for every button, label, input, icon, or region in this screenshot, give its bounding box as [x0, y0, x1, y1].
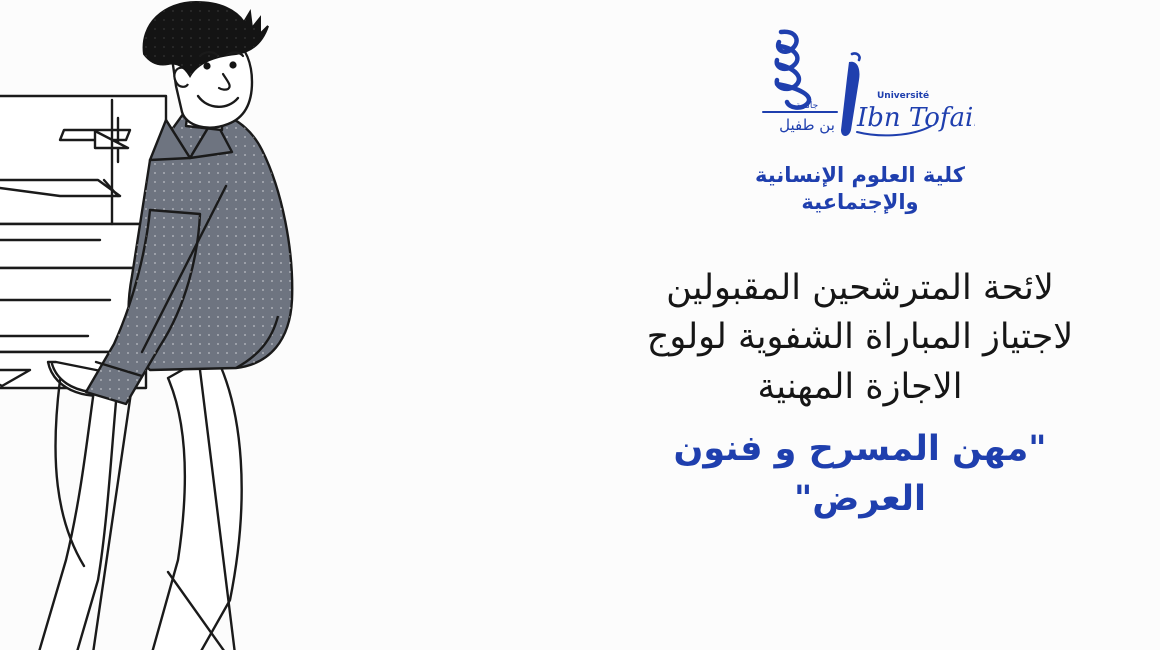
program-title: "مهن المسرح و فنون العرض": [580, 425, 1140, 524]
poster-root: جامعة بن طفيل Université Ibn Tofail كلية…: [0, 0, 1160, 650]
logo-svg: جامعة بن طفيل Université Ibn Tofail: [745, 26, 975, 156]
faculty-name-line1: كلية العلوم الإنسانية: [695, 162, 1025, 189]
legs: [36, 352, 242, 650]
heading-line1: لائحة المترشحين المقبولين: [580, 264, 1140, 314]
heading-line3: الاجازة المهنية: [580, 363, 1140, 413]
announcement-heading: لائحة المترشحين المقبولين لاجتياز المبار…: [580, 264, 1140, 524]
content-column: جامعة بن طفيل Université Ibn Tofail كلية…: [560, 0, 1160, 650]
faculty-name-line2: والإجتماعية: [695, 189, 1025, 216]
logo-arabic-name: بن طفيل: [779, 116, 835, 134]
faculty-name: كلية العلوم الإنسانية والإجتماعية: [695, 162, 1025, 216]
logo-latin-line2: Ibn Tofail: [856, 103, 975, 133]
logo-latin-line1: Université: [877, 90, 929, 101]
university-logo: جامعة بن طفيل Université Ibn Tofail: [745, 26, 975, 156]
illustration-man-carrying-papers: [0, 0, 420, 650]
svg-text:جامعة: جامعة: [796, 101, 818, 111]
heading-line2: لاجتياز المباراة الشفوية لولوج: [580, 313, 1140, 363]
heading-main: لائحة المترشحين المقبولين لاجتياز المبار…: [580, 264, 1140, 413]
program-title-line1: "مهن المسرح و فنون: [580, 425, 1140, 475]
illustration-svg: [0, 0, 420, 650]
program-title-line2: العرض": [580, 475, 1140, 525]
